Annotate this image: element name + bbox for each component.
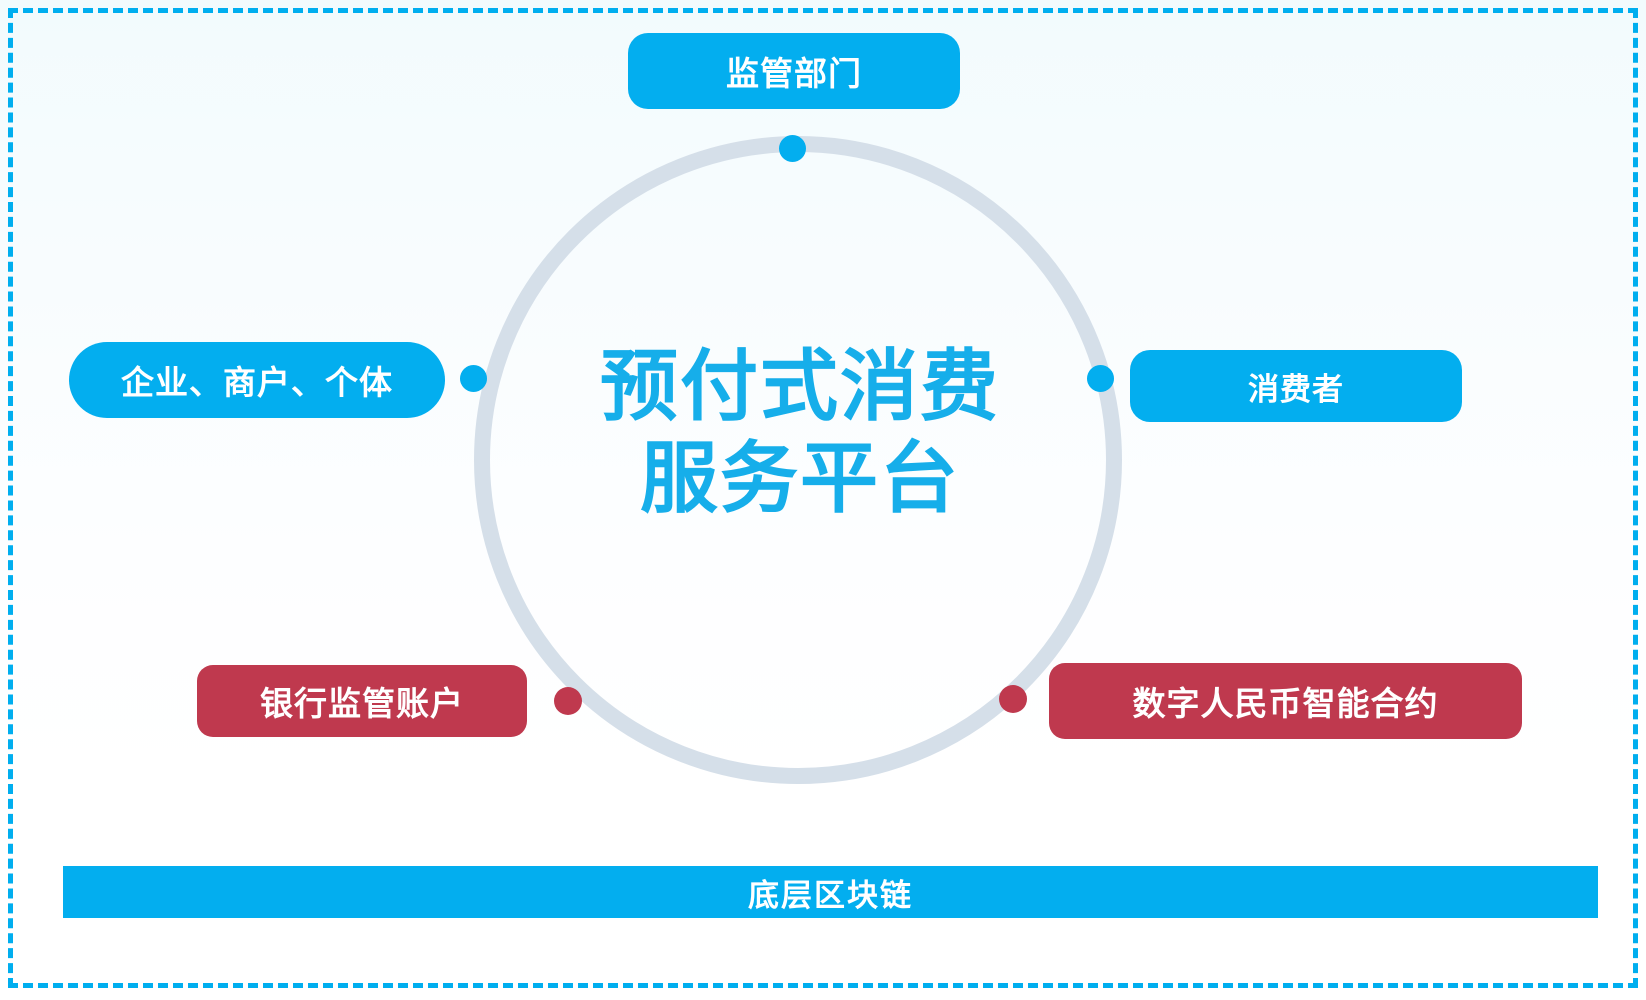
node-regulator[interactable]: 监管部门 [628, 33, 960, 109]
node-enterprise-label: 企业、商户、个体 [121, 356, 393, 404]
center-platform-label: 预付式消费 服务平台 [520, 340, 1080, 524]
node-ecny-contract-label: 数字人民币智能合约 [1133, 677, 1439, 725]
connector-dot-ecny-contract [999, 685, 1027, 713]
diagram-canvas: 预付式消费 服务平台 监管部门 企业、商户、个体 消费者 银行监管账户 数字人民… [0, 0, 1646, 1000]
connector-dot-enterprise [460, 365, 487, 392]
foundation-blockchain-bar[interactable]: 底层区块链 [63, 866, 1598, 918]
node-consumer[interactable]: 消费者 [1130, 350, 1462, 422]
connector-dot-consumer [1087, 365, 1114, 392]
center-label-line2: 服务平台 [520, 432, 1080, 524]
node-bank-account[interactable]: 银行监管账户 [197, 665, 527, 737]
node-consumer-label: 消费者 [1248, 364, 1344, 409]
node-bank-account-label: 银行监管账户 [260, 677, 464, 725]
node-enterprise[interactable]: 企业、商户、个体 [69, 342, 445, 418]
foundation-blockchain-label: 底层区块链 [748, 870, 913, 915]
node-ecny-contract[interactable]: 数字人民币智能合约 [1049, 663, 1522, 739]
node-regulator-label: 监管部门 [726, 47, 862, 95]
connector-dot-bank-account [554, 687, 582, 715]
connector-dot-regulator [779, 135, 806, 162]
center-label-line1: 预付式消费 [520, 340, 1080, 432]
